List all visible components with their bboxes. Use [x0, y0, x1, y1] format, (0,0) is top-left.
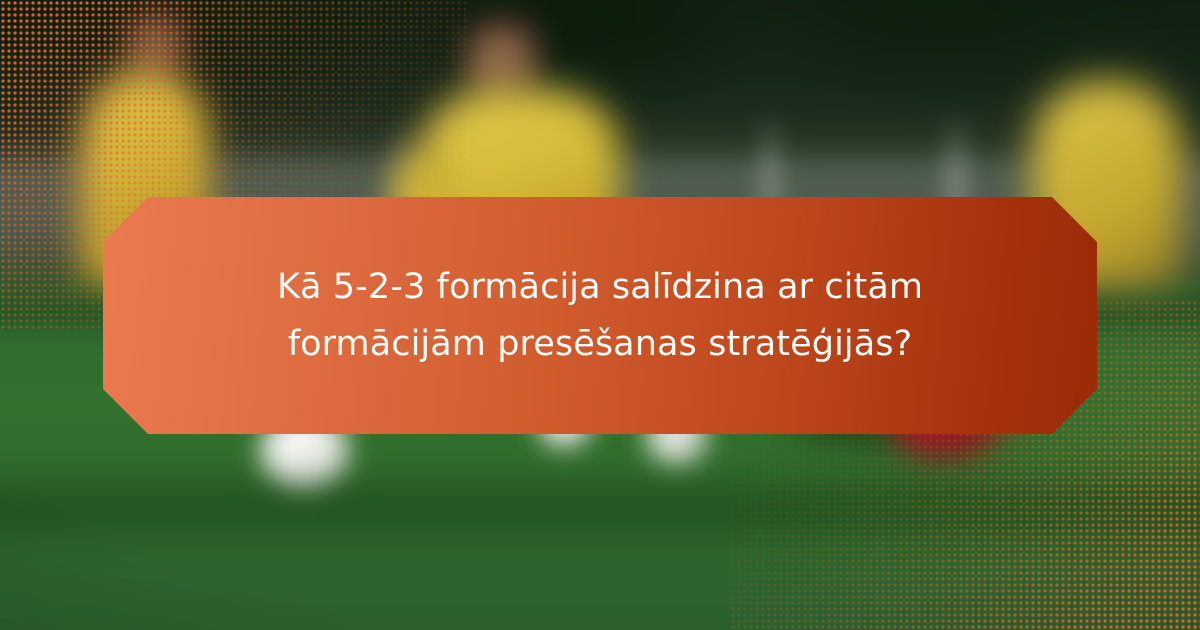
page-title: Kā 5-2-3 formācija salīdzina ar citām fo… — [207, 259, 993, 372]
grass-shadow-lower — [0, 470, 1200, 540]
headline-line-2: formācijām presēšanas stratēģijās? — [288, 324, 913, 364]
headline-line-1: Kā 5-2-3 formācija salīdzina ar citām — [277, 267, 923, 307]
social-card: Kā 5-2-3 formācija salīdzina ar citām fo… — [0, 0, 1200, 630]
headline-banner: Kā 5-2-3 formācija salīdzina ar citām fo… — [103, 197, 1097, 434]
